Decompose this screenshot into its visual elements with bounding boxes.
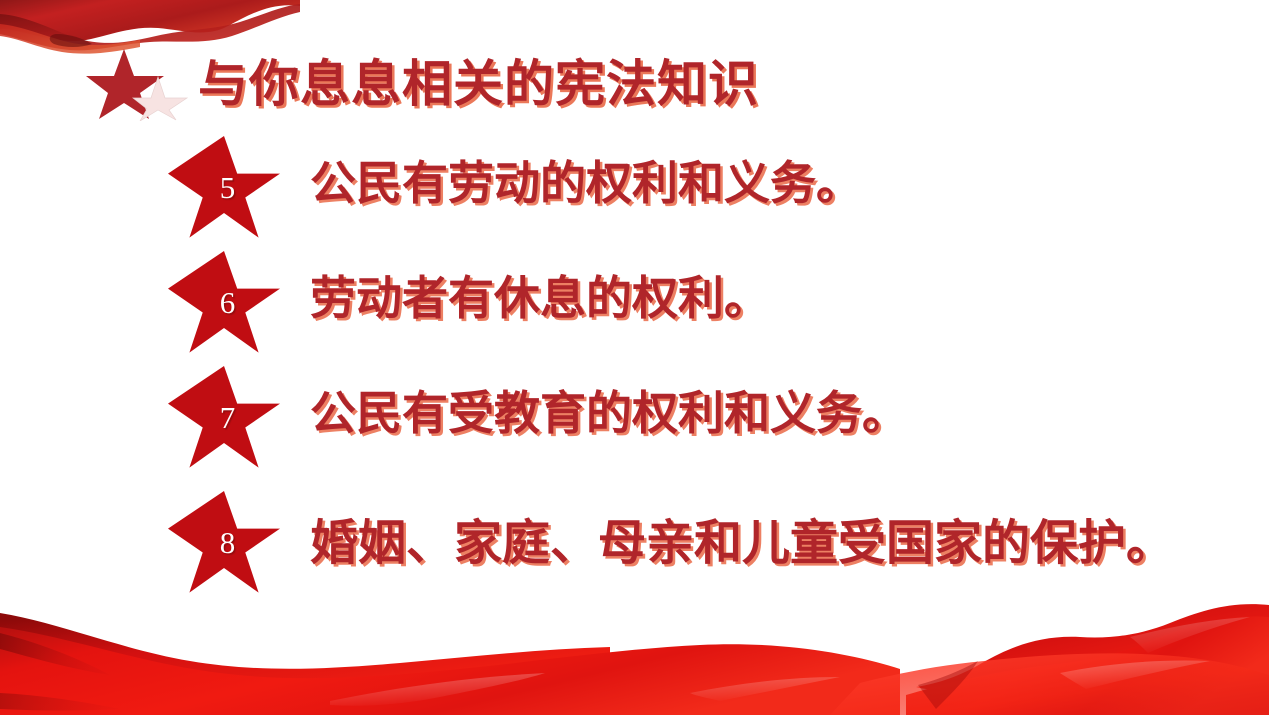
list-item: 8 婚姻、家庭、母亲和儿童受国家的保护。 [168,491,1168,616]
item-number: 8 [168,527,280,558]
numbered-star-badge: 8 [168,491,280,598]
slide-canvas: 与你息息相关的宪法知识 5 公民有劳动的权利和义务。 6 劳动者有休息的权利。 … [0,0,1269,715]
item-number: 6 [168,287,280,318]
item-text: 公民有受教育的权利和义务。 [310,388,908,440]
list-item: 7 公民有受教育的权利和义务。 [168,366,1168,491]
numbered-star-badge: 5 [168,136,280,243]
numbered-star-badge: 7 [168,366,280,473]
item-number: 5 [168,172,280,203]
item-text: 公民有劳动的权利和义务。 [310,158,862,210]
double-star-icon [86,47,190,121]
item-text: 婚姻、家庭、母亲和儿童受国家的保护。 [310,517,1174,571]
constitution-knowledge-list: 5 公民有劳动的权利和义务。 6 劳动者有休息的权利。 7 公民有受教育的权利和… [168,136,1168,616]
slide-title-row: 与你息息相关的宪法知识 [86,44,759,124]
item-number: 7 [168,402,280,433]
item-text: 劳动者有休息的权利。 [310,273,770,325]
list-item: 6 劳动者有休息的权利。 [168,251,1168,366]
numbered-star-badge: 6 [168,251,280,358]
list-item: 5 公民有劳动的权利和义务。 [168,136,1168,251]
page-title: 与你息息相关的宪法知识 [198,59,759,109]
